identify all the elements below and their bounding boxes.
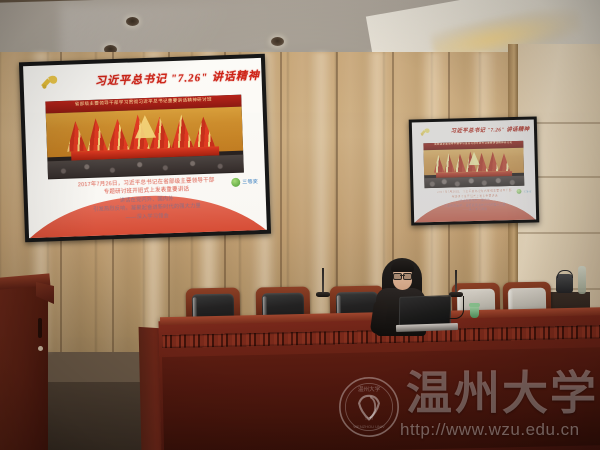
communist-party-emblem-icon (417, 125, 433, 140)
presentation-slide-secondary: 习近平总书记 "7.26" 讲话精神 省部级主要领导干部学习贯彻习近平总书记重要… (412, 120, 536, 223)
podium-slot (38, 318, 42, 338)
microphone-stem (455, 270, 457, 294)
presenter-fringe (391, 261, 414, 272)
slide-award-badge-secondary: 三等奖 (516, 189, 532, 194)
glasses-icon (393, 273, 412, 278)
glasses-right-lens (403, 273, 412, 280)
communist-party-emblem-icon (33, 70, 65, 97)
water-bottle (578, 266, 586, 294)
stone-seam (516, 232, 600, 234)
downlight-icon (126, 17, 139, 26)
hall-audience (424, 176, 524, 188)
teacup-lid (469, 303, 480, 307)
microphone-stem (322, 268, 324, 294)
slide-award-badge: 三等奖 (231, 177, 258, 187)
microphone-base (316, 292, 330, 297)
slide-body-text-secondary: 2017年7月26日，习近平总书记在省部级主要领导干部 专题研讨班开班式上发表重… (421, 188, 529, 214)
laptop-cable (447, 296, 464, 319)
badge-label: 三等奖 (523, 189, 532, 193)
presentation-slide: 习近平总书记 "7.26" 讲话精神 省部级主要领导干部学习贯彻习近平总书记重要… (23, 58, 267, 238)
slide-photo-conference-hall-secondary: 省部级主要领导干部学习贯彻习近平总书记重要讲话精神研讨班 (423, 141, 524, 188)
conference-room-photograph: 习近平总书记 "7.26" 讲话精神 省部级主要领导干部学习贯彻习近平总书记重要… (0, 0, 600, 450)
slide-title-secondary: 习近平总书记 "7.26" 讲话精神 (449, 125, 532, 135)
badge-dot-icon (516, 189, 521, 194)
downlight-icon (271, 37, 284, 46)
slide-title: 习近平总书记 "7.26" 讲话精神 (95, 67, 257, 89)
main-projection-screen: 习近平总书记 "7.26" 讲话精神 省部级主要领导干部学习贯彻习近平总书记重要… (19, 54, 271, 242)
kettle-handle (557, 270, 573, 278)
slide-body-text: 2017年7月26日，习近平总书记在省部级主要领导干部 专题研讨班开班式上发表重… (41, 175, 252, 224)
green-teacup (470, 306, 479, 318)
secondary-projection-screen: 习近平总书记 "7.26" 讲话精神 省部级主要领导干部学习贯彻习近平总书记重要… (409, 116, 540, 225)
table-lower-panel (162, 347, 600, 450)
speaker-podium (0, 280, 48, 450)
podium-knob (38, 346, 43, 351)
badge-label: 三等奖 (242, 178, 258, 186)
slide-photo-conference-hall: 省部级主要领导干部学习贯彻习近平总书记重要讲话精神研讨班 (46, 95, 244, 179)
badge-dot-icon (231, 177, 240, 186)
